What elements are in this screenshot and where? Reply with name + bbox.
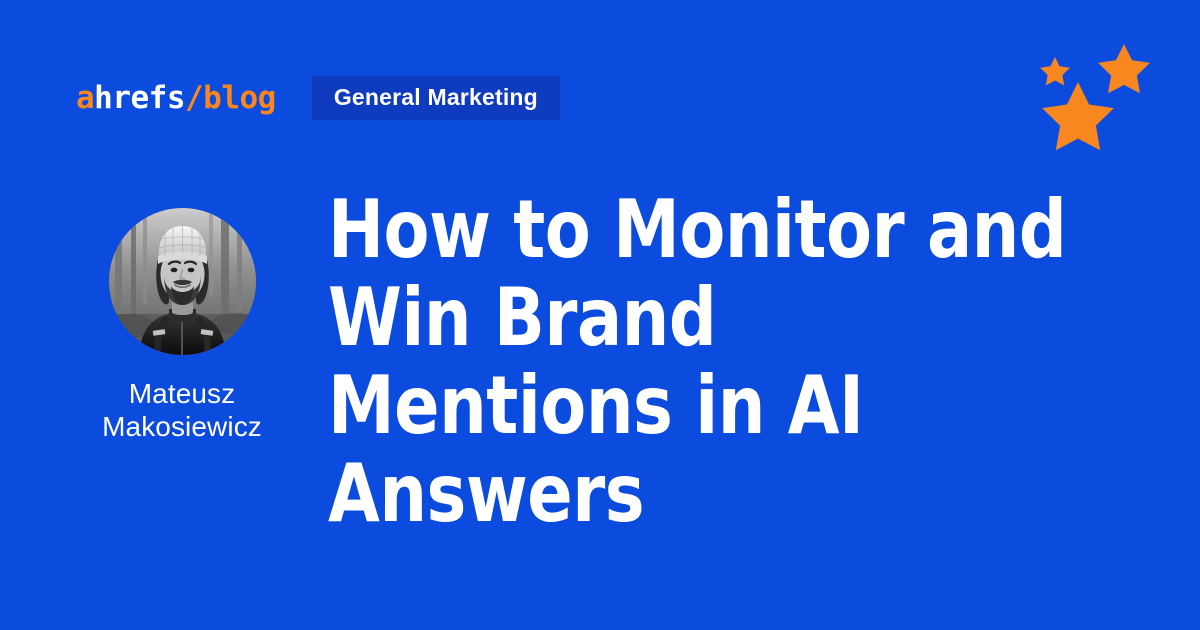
- ahrefs-blog-logo[interactable]: ahrefs/blog: [76, 83, 276, 114]
- category-badge[interactable]: General Marketing: [312, 76, 560, 120]
- star-decoration-group: [1020, 0, 1200, 170]
- category-badge-label: General Marketing: [334, 86, 538, 109]
- article-title: How to Monitor and Win Brand Mentions in…: [328, 186, 1072, 538]
- author-block: Mateusz Makosiewicz: [45, 208, 319, 443]
- star-medium-icon: [1098, 44, 1150, 93]
- star-large-icon: [1042, 82, 1114, 150]
- author-name: Mateusz Makosiewicz: [67, 377, 297, 443]
- header-bar: ahrefs/blog General Marketing: [76, 76, 560, 120]
- logo-text-slash-blog: /blog: [185, 83, 276, 114]
- logo-text-hrefs: hrefs: [94, 83, 185, 114]
- author-avatar: [109, 208, 256, 355]
- logo-letter-a: a: [76, 83, 94, 114]
- star-small-icon: [1040, 57, 1070, 85]
